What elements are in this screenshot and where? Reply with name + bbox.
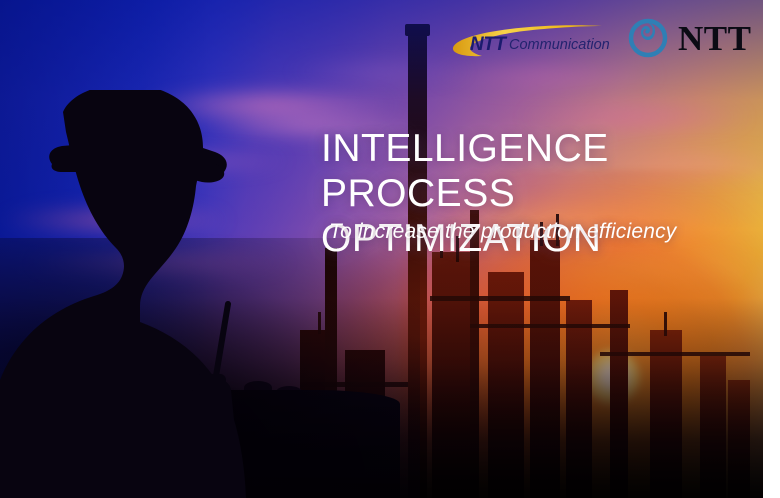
ntt-eye-mark-icon: [628, 18, 668, 58]
ntt-wordmark: NTT: [678, 21, 751, 56]
page-subtitle: To increase the production efficiency: [329, 220, 677, 244]
ntt-communications-logo: NTT Communications: [452, 23, 610, 59]
right-white-gutter: [763, 0, 780, 498]
hero-background-photo: INTELLIGENCE PROCESS OPTIMIZATION To inc…: [0, 0, 763, 498]
ntt-hero-banner: INTELLIGENCE PROCESS OPTIMIZATION To inc…: [0, 0, 780, 498]
ntt-logo: NTT: [628, 16, 748, 60]
ntt-comm-script-text: Communications: [509, 37, 610, 53]
worker-silhouette: [0, 90, 300, 498]
ntt-comm-bold-text: NTT: [470, 34, 507, 55]
